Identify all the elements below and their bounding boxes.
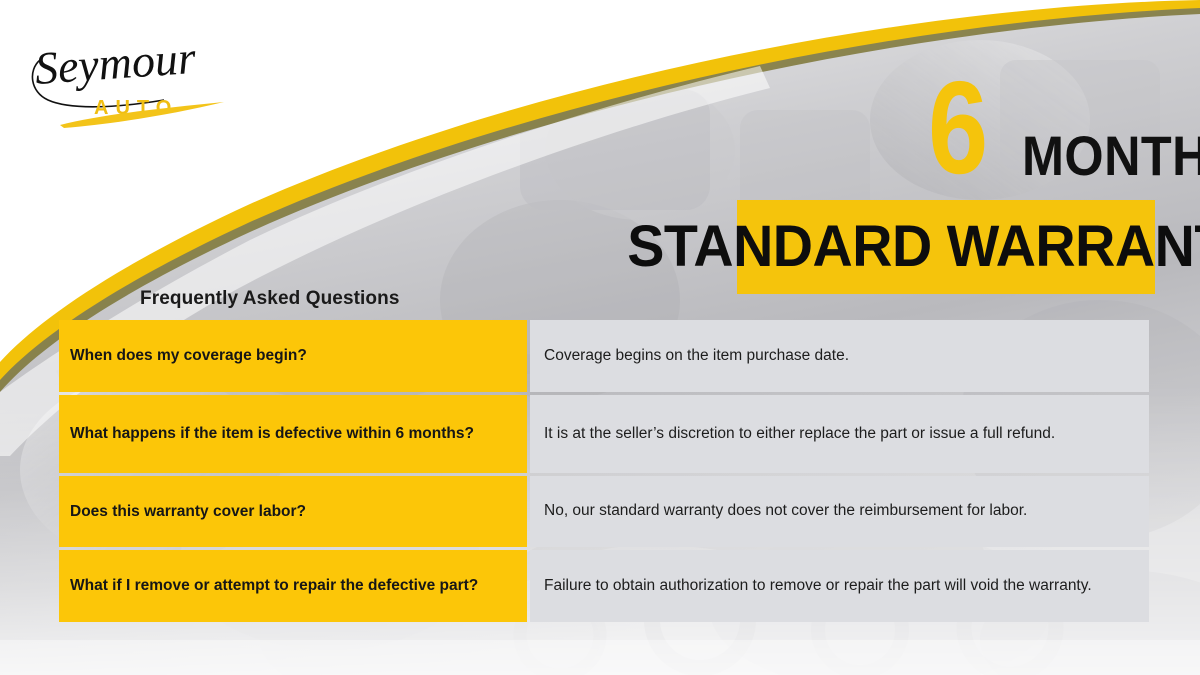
warranty-duration-number: 6 — [928, 62, 986, 194]
faq-answer-text: Coverage begins on the item purchase dat… — [544, 346, 1136, 366]
faq-question-text: What happens if the item is defective wi… — [70, 424, 474, 443]
faq-answer-text: It is at the seller’s discretion to eith… — [544, 424, 1136, 444]
table-row: Does this warranty cover labor? No, our … — [59, 476, 1149, 547]
faq-question-cell: When does my coverage begin? — [59, 320, 527, 392]
logo-wordmark: Seymour — [33, 32, 198, 94]
standard-warranty-banner: STANDARD WARRANTY — [737, 200, 1155, 294]
standard-warranty-banner-text: STANDARD WARRANTY — [627, 218, 1200, 276]
faq-answer-cell: It is at the seller’s discretion to eith… — [530, 395, 1149, 473]
table-row: What if I remove or attempt to repair th… — [59, 550, 1149, 622]
warranty-slide: Seymour AUTO 6 MONTH STANDARD WARRANTY F… — [0, 0, 1200, 675]
table-row: When does my coverage begin? Coverage be… — [59, 320, 1149, 392]
faq-question-cell: What happens if the item is defective wi… — [59, 395, 527, 473]
table-row: What happens if the item is defective wi… — [59, 395, 1149, 473]
faq-answer-cell: No, our standard warranty does not cover… — [530, 476, 1149, 547]
faq-question-text: When does my coverage begin? — [70, 346, 307, 365]
faq-question-text: What if I remove or attempt to repair th… — [70, 576, 478, 595]
faq-table: When does my coverage begin? Coverage be… — [59, 320, 1149, 622]
faq-answer-cell: Failure to obtain authorization to remov… — [530, 550, 1149, 622]
faq-answer-cell: Coverage begins on the item purchase dat… — [530, 320, 1149, 392]
warranty-duration: 6 MONTH — [928, 78, 1158, 186]
faq-question-text: Does this warranty cover labor? — [70, 502, 306, 521]
warranty-duration-unit: MONTH — [1022, 128, 1200, 184]
faq-heading: Frequently Asked Questions — [140, 288, 400, 310]
seymour-auto-logo: Seymour AUTO — [24, 22, 254, 132]
faq-answer-text: Failure to obtain authorization to remov… — [544, 576, 1136, 596]
faq-question-cell: Does this warranty cover labor? — [59, 476, 527, 547]
faq-question-cell: What if I remove or attempt to repair th… — [59, 550, 527, 622]
faq-answer-text: No, our standard warranty does not cover… — [544, 501, 1136, 521]
